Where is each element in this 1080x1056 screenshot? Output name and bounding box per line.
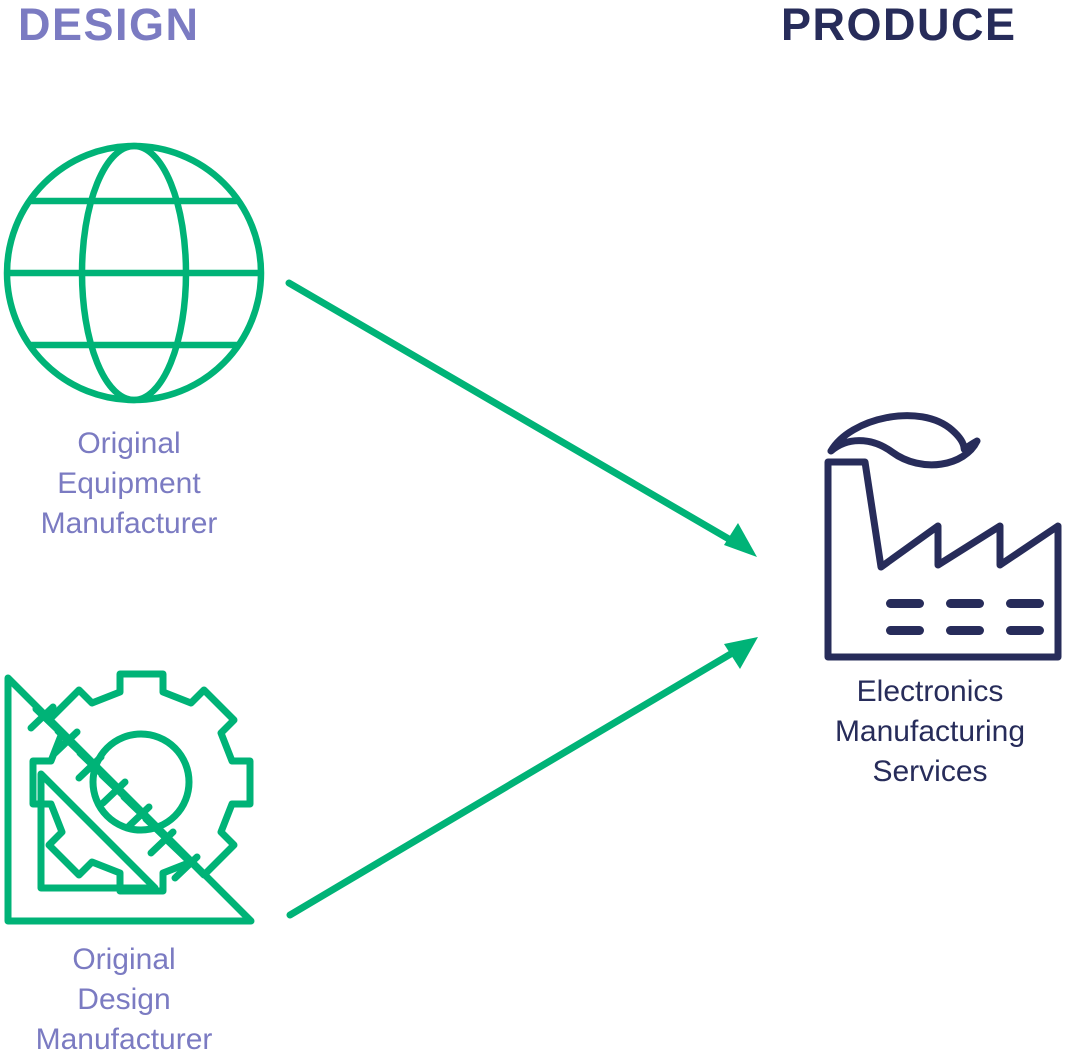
connector-line-oem-ems xyxy=(289,283,734,542)
column-title-design: DESIGN xyxy=(18,2,200,47)
node-label-ems: Electronics Manufacturing Services xyxy=(790,672,1070,792)
column-title-produce: PRODUCE xyxy=(781,2,1017,47)
gear-and-set-square-icon xyxy=(0,668,270,943)
node-odm-icon-wrap xyxy=(0,668,270,948)
node-label-odm: Original Design Manufacturer xyxy=(0,940,248,1056)
arrowhead-oem-ems xyxy=(724,523,757,557)
node-ems-icon-wrap xyxy=(800,400,1070,670)
node-label-oem: Original Equipment Manufacturer xyxy=(0,424,258,544)
connector-odm-to-ems xyxy=(290,637,758,915)
factory-windows xyxy=(886,599,1044,635)
arrowhead-odm-ems xyxy=(724,637,758,669)
connector-line-odm-ems xyxy=(290,652,734,915)
diagram-canvas: DESIGN PRODUCE Original Equipment Manufa… xyxy=(0,0,1080,1056)
connector-oem-to-ems xyxy=(289,283,757,557)
factory-icon xyxy=(800,400,1070,665)
globe-icon xyxy=(0,138,270,408)
node-oem-icon-wrap xyxy=(0,138,270,413)
smoke-wisp xyxy=(831,416,977,465)
